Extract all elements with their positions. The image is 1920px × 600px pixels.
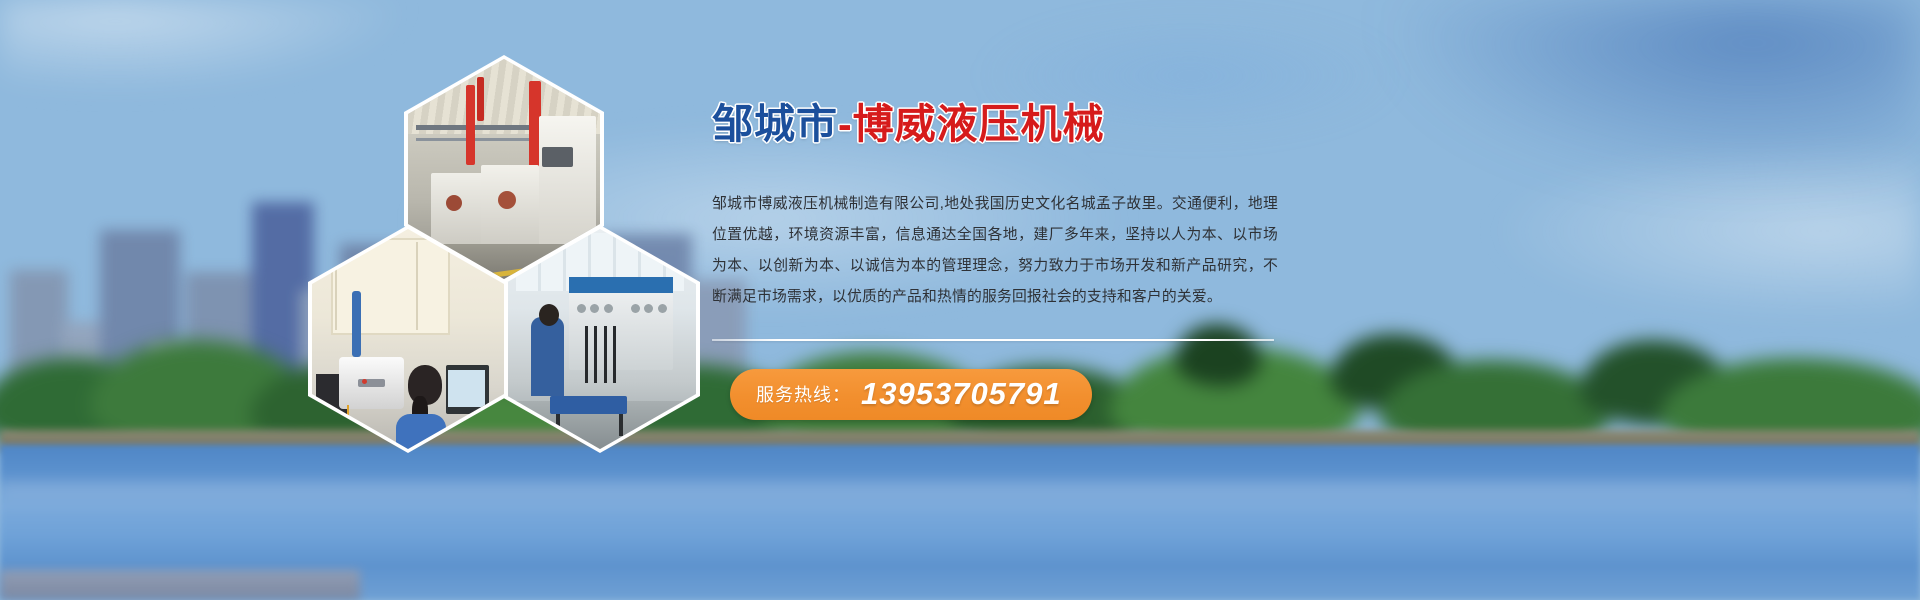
company-description: 邹城市博威液压机械制造有限公司,地处我国历史文化名城孟子故里。交通便利，地理位置… — [712, 189, 1278, 313]
company-profile-banner: 邹城市-博威液压机械 邹城市博威液压机械制造有限公司,地处我国历史文化名城孟子故… — [0, 0, 1920, 600]
hotline-label: 服务热线： — [756, 381, 851, 407]
hotline-number: 13953705791 — [861, 378, 1062, 409]
banner-text-content: 邹城市-博威液压机械 邹城市博威液压机械制造有限公司,地处我国历史文化名城孟子故… — [712, 104, 1292, 420]
page-title: 邹城市-博威液压机械 — [712, 104, 1292, 145]
title-city-part: 邹城市 — [712, 101, 838, 147]
section-divider — [712, 339, 1274, 341]
hotline-button[interactable]: 服务热线： 13953705791 — [730, 369, 1092, 420]
title-company-part: -博威液压机械 — [838, 101, 1105, 147]
background-pier — [0, 570, 360, 600]
hexagon-photo-cluster — [300, 55, 700, 445]
